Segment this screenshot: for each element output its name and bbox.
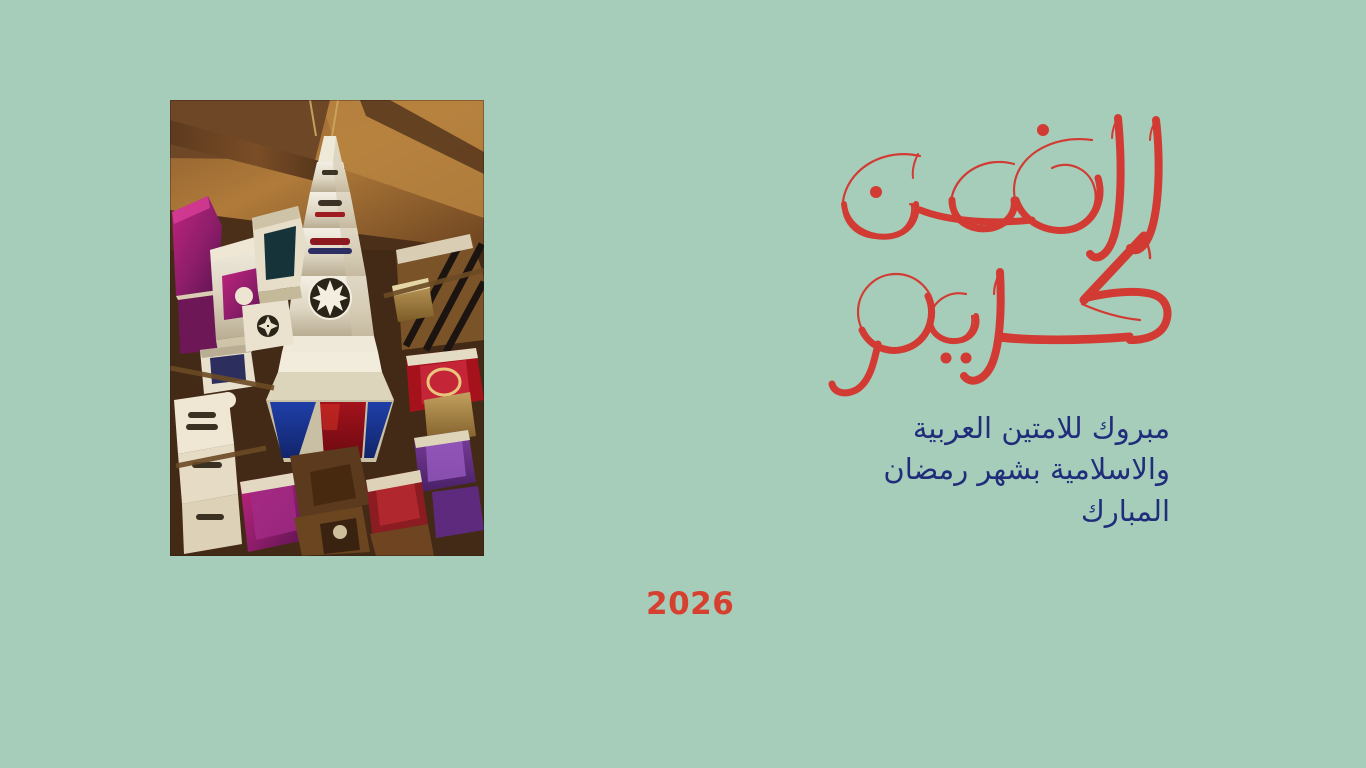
ramadan-lanterns-photo xyxy=(170,100,484,556)
year-label: 2026 xyxy=(646,586,734,622)
greeting-line-2: والاسلامية بشهر رمضان xyxy=(840,449,1170,490)
greeting-line-3: المبارك xyxy=(840,491,1170,532)
calligraphy-artwork xyxy=(800,104,1180,380)
slide-canvas: مبروك للامتين العربية والاسلامية بشهر رم… xyxy=(0,0,1366,768)
greeting-text-block: مبروك للامتين العربية والاسلامية بشهر رم… xyxy=(840,408,1170,532)
greeting-line-1: مبروك للامتين العربية xyxy=(840,408,1170,449)
ramadan-kareem-calligraphy xyxy=(800,104,1180,380)
lanterns-illustration xyxy=(170,100,484,556)
